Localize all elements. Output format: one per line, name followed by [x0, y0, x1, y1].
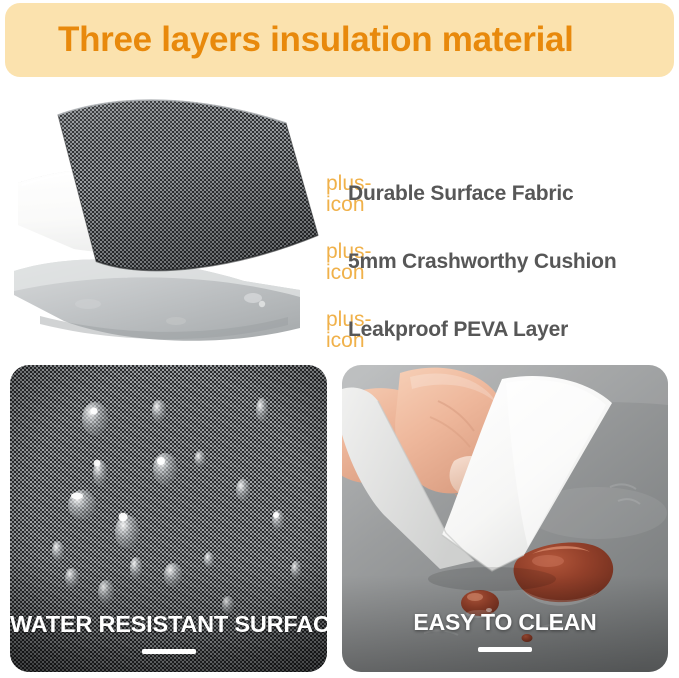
- layer-label-text: 5mm Crashworthy Cushion: [348, 250, 616, 274]
- layer-label-list: plus-icon Durable Surface Fabric plus-ic…: [326, 160, 679, 364]
- layer-label-row-leakproof-peva-layer: plus-icon Leakproof PEVA Layer: [326, 296, 679, 364]
- panel-caption-easy-clean: EASY TO CLEAN: [342, 609, 668, 672]
- layers-svg: [0, 85, 340, 350]
- peva-liner-layer: [14, 259, 300, 341]
- panel-caption-text: EASY TO CLEAN: [342, 609, 668, 636]
- three-layer-exploded-illustration: [0, 85, 340, 350]
- feature-panel-easy-clean: EASY TO CLEAN: [342, 365, 668, 672]
- feature-panel-water-resistant: WATER RESISTANT SURFACE: [10, 365, 327, 672]
- layer-label-row-crashworthy-cushion: plus-icon 5mm Crashworthy Cushion: [326, 228, 679, 296]
- page-header-banner: Three layers insulation material: [5, 3, 674, 77]
- plus-icon: plus-icon: [326, 309, 348, 351]
- caption-underline: [142, 649, 196, 654]
- plus-icon: plus-icon: [326, 241, 348, 283]
- layer-label-row-durable-surface-fabric: plus-icon Durable Surface Fabric: [326, 160, 679, 228]
- layer-label-text: Durable Surface Fabric: [348, 182, 574, 206]
- panel-caption-text: WATER RESISTANT SURFACE: [10, 611, 327, 638]
- panel-caption-water-resistant: WATER RESISTANT SURFACE: [10, 611, 327, 672]
- caption-underline: [478, 647, 532, 652]
- plus-icon: plus-icon: [326, 173, 348, 215]
- page-title: Three layers insulation material: [58, 20, 574, 60]
- layer-label-text: Leakproof PEVA Layer: [348, 318, 568, 342]
